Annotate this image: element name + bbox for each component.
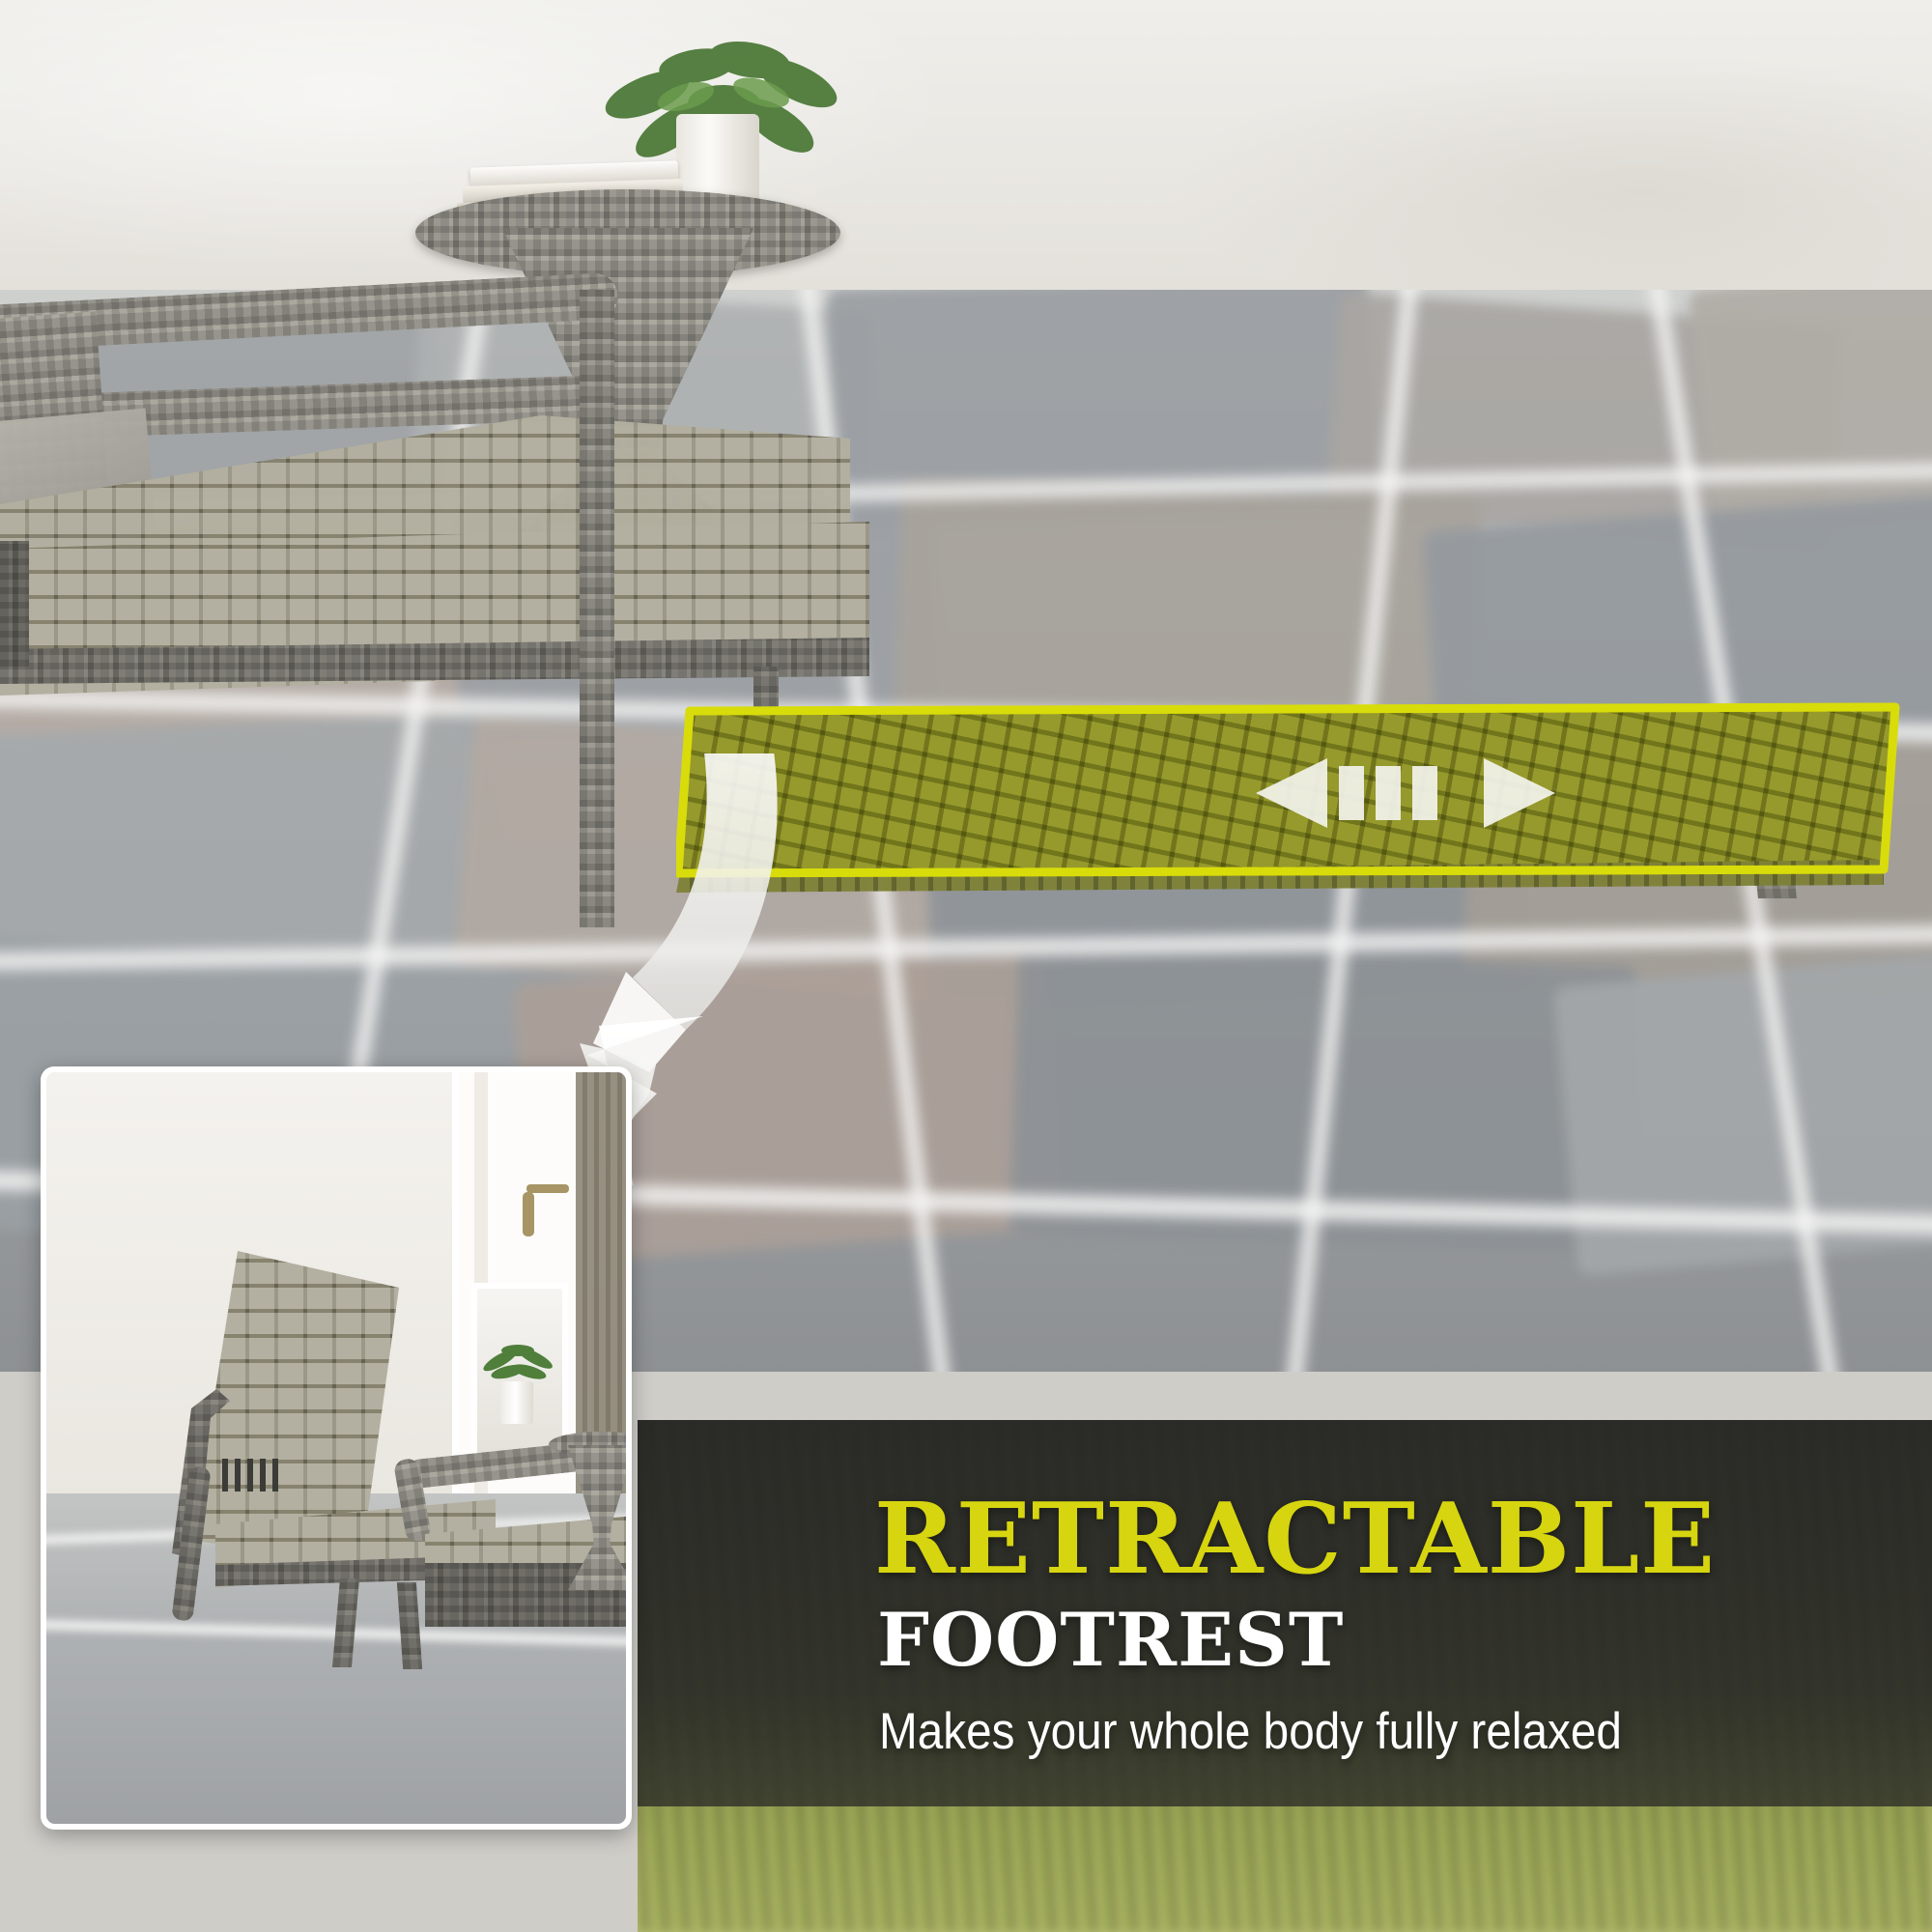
chaise-left-rail xyxy=(0,541,29,667)
inset-ratchet-teeth xyxy=(222,1459,284,1492)
product-feature-image: RETRACTABLE FOOTREST Makes your whole bo… xyxy=(0,0,1932,1932)
inset-photo xyxy=(46,1072,626,1824)
subheadline: FOOTREST xyxy=(877,1604,1344,1677)
wall-background xyxy=(0,0,1932,319)
headline: RETRACTABLE xyxy=(874,1490,1716,1587)
inset-door-handle xyxy=(526,1184,569,1193)
inset-door-glass xyxy=(576,1072,626,1493)
tagline: Makes your whole body fully relaxed xyxy=(879,1706,1622,1757)
feature-text-banner: RETRACTABLE FOOTREST Makes your whole bo… xyxy=(638,1420,1932,1932)
slide-both-ways-icon xyxy=(1256,749,1555,838)
inset-photo-frame[interactable] xyxy=(41,1066,632,1830)
inset-handle-stem xyxy=(523,1192,534,1236)
inset-plant-pot xyxy=(500,1381,533,1424)
